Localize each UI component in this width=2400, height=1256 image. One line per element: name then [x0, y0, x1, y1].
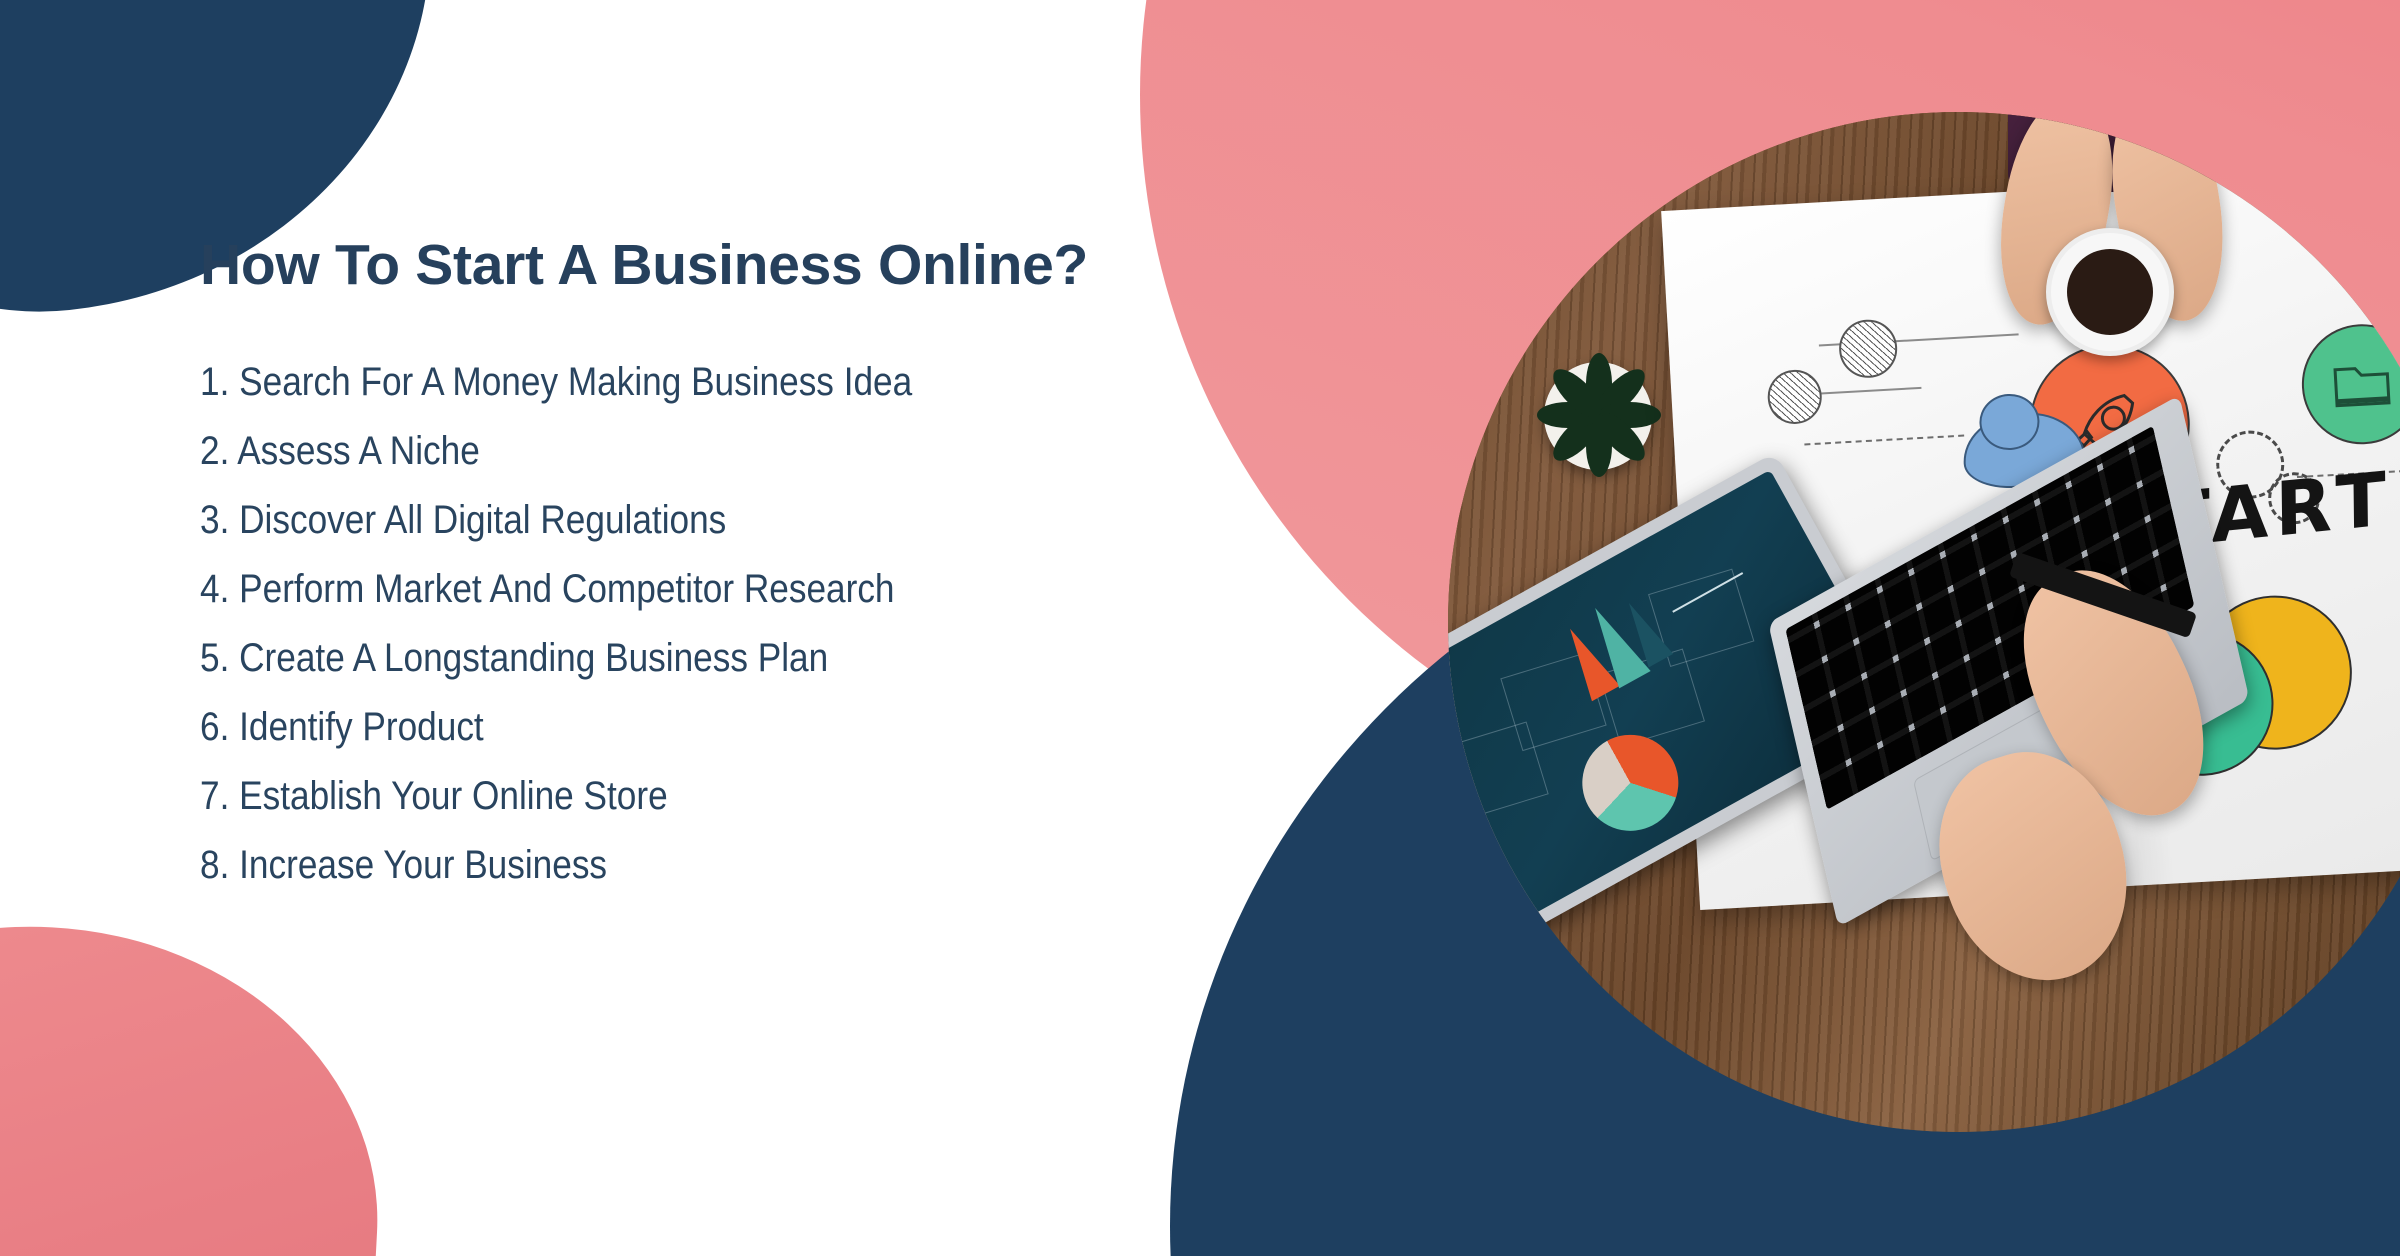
coffee-liquid: [2067, 249, 2153, 335]
text-column: How To Start A Business Online? 1. Searc…: [200, 232, 1350, 912]
list-item: 1. Search For A Money Making Business Id…: [200, 360, 1212, 405]
list-item: 6. Identify Product: [200, 705, 1212, 750]
photo-inner: ⮝ ⮝ START UP ⇦ ⇨ XX01 XX02: [1448, 112, 2400, 1132]
steps-list: 1. Search For A Money Making Business Id…: [200, 360, 1350, 888]
succulent-plant: [1524, 340, 1674, 490]
screen-pie-chart: [1565, 718, 1696, 849]
page-title: How To Start A Business Online?: [200, 232, 1350, 298]
startup-desk-photo: ⮝ ⮝ START UP ⇦ ⇨ XX01 XX02: [1448, 112, 2400, 1132]
slide-canvas: ⮝ ⮝ START UP ⇦ ⇨ XX01 XX02: [0, 0, 2400, 1256]
pink-blob-bottom-left: [0, 907, 392, 1256]
list-item: 7. Establish Your Online Store: [200, 774, 1212, 819]
list-item: 3. Discover All Digital Regulations: [200, 498, 1212, 543]
list-item: 8. Increase Your Business: [200, 843, 1212, 888]
list-item: 5. Create A Longstanding Business Plan: [200, 636, 1212, 681]
list-item: 2. Assess A Niche: [200, 429, 1212, 474]
list-item: 4. Perform Market And Competitor Researc…: [200, 567, 1212, 612]
coffee-cup: [2046, 228, 2174, 356]
